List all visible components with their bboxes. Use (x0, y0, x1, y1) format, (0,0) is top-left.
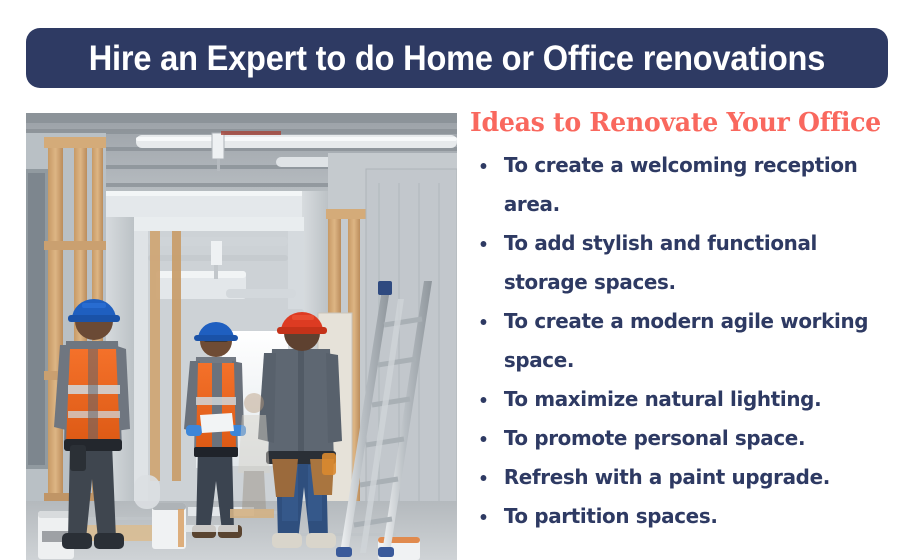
bullet-icon (481, 241, 487, 247)
list-item: To add stylish and functional storage sp… (466, 224, 901, 302)
list-item-label: To promote personal space. (504, 426, 805, 450)
page-title: Hire an Expert to do Home or Office reno… (89, 41, 825, 76)
list-item-label: To add stylish and functional storage sp… (504, 231, 817, 294)
list-item-label: Refresh with a paint upgrade. (504, 465, 830, 489)
list-item: To maximize natural lighting. (466, 380, 901, 419)
bullet-icon (481, 397, 487, 403)
ideas-panel: Ideas to Renovate Your Office To create … (466, 108, 914, 560)
list-item-label: To create a welcoming reception area. (504, 153, 858, 216)
bullet-icon (481, 514, 487, 520)
renovation-photo (26, 113, 457, 560)
list-item: To create a welcoming reception area. (466, 146, 901, 224)
list-item-label: To maximize natural lighting. (504, 387, 821, 411)
bullet-icon (481, 163, 487, 169)
list-item-label: To partition spaces. (504, 504, 718, 528)
list-item: To partition spaces. (466, 497, 901, 536)
bullet-icon (481, 436, 487, 442)
bullet-icon (481, 475, 487, 481)
ideas-heading: Ideas to Renovate Your Office (470, 108, 901, 138)
construction-site-illustration (26, 113, 457, 560)
list-item-label: To create a modern agile working space. (504, 309, 868, 372)
list-item: Refresh with a paint upgrade. (466, 458, 901, 497)
list-item: To promote personal space. (466, 419, 901, 458)
bullet-icon (481, 319, 487, 325)
header-banner: Hire an Expert to do Home or Office reno… (26, 28, 888, 88)
paint-bucket-mid (152, 503, 186, 549)
list-item: To create a modern agile working space. (466, 302, 901, 380)
ideas-list: To create a welcoming reception area. To… (466, 146, 914, 536)
